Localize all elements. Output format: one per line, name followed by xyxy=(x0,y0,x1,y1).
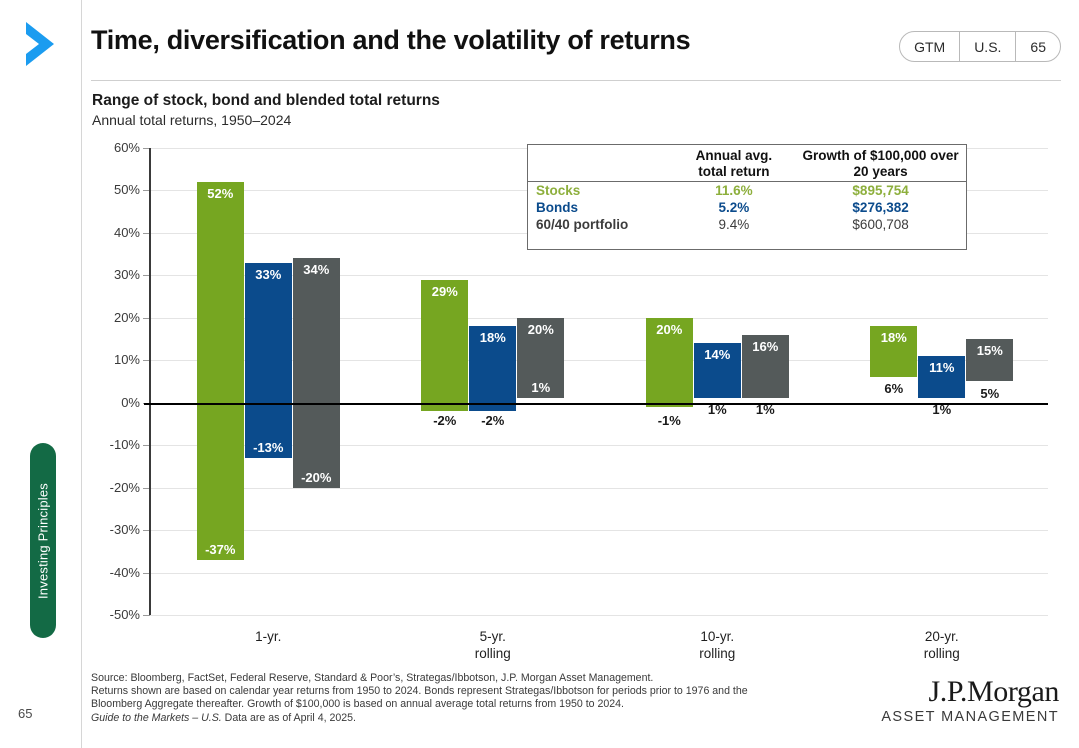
rail-divider xyxy=(81,0,82,748)
y-axis-tick-label: 20% xyxy=(92,310,140,325)
bar-min-label: -2% xyxy=(469,413,516,428)
zero-baseline xyxy=(144,403,1048,405)
bar-max-label: 20% xyxy=(517,322,564,337)
col-header-blank xyxy=(528,145,673,182)
bar-max-label: 16% xyxy=(742,339,789,354)
y-axis-tick-label: -10% xyxy=(92,437,140,452)
y-axis-tick-label: 50% xyxy=(92,182,140,197)
y-axis-tick xyxy=(143,615,150,616)
x-axis-label-1: 5-yr.rolling xyxy=(423,628,563,662)
chart-title: Range of stock, bond and blended total r… xyxy=(92,92,440,110)
footnote-line-1: Source: Bloomberg, FactSet, Federal Rese… xyxy=(91,672,881,685)
table-header-row: Annual avg. total return Growth of $100,… xyxy=(528,145,966,182)
bar-max-label: 15% xyxy=(966,343,1013,358)
sidebar-item-label: Investing Principles xyxy=(36,483,51,599)
x-axis-label-line: 10-yr. xyxy=(647,628,787,645)
chart-subtitle: Annual total returns, 1950–2024 xyxy=(92,112,291,128)
y-axis-tick-label: 40% xyxy=(92,225,140,240)
bar-max-label: 18% xyxy=(870,330,917,345)
bar-bonds-0 xyxy=(245,263,292,458)
y-axis-tick-label: -40% xyxy=(92,565,140,580)
bar-min-label: 6% xyxy=(870,381,917,396)
bar-max-label: 18% xyxy=(469,330,516,345)
table-row: Stocks11.6%$895,754 xyxy=(528,182,966,200)
gtm-badge-cell-region: U.S. xyxy=(959,32,1015,61)
bar-max-label: 11% xyxy=(918,360,965,375)
page-number: 65 xyxy=(18,706,32,721)
x-axis-label-0: 1-yr. xyxy=(198,628,338,645)
x-axis-label-line: 20-yr. xyxy=(872,628,1012,645)
bar-max-label: 34% xyxy=(293,262,340,277)
y-axis-tick-label: -20% xyxy=(92,480,140,495)
col-header-growth: Growth of $100,000 over 20 years xyxy=(795,145,966,182)
col-header-growth-line1: Growth of $100,000 over xyxy=(803,148,959,163)
x-axis-label-line: rolling xyxy=(872,645,1012,662)
sidebar-item-investing-principles[interactable]: Investing Principles xyxy=(30,443,56,638)
bar-min-label: -13% xyxy=(245,440,292,455)
col-header-annual-avg: Annual avg. total return xyxy=(673,145,796,182)
y-axis-tick-label: -30% xyxy=(92,522,140,537)
blue-chevron-right-icon xyxy=(14,16,62,72)
x-axis-label-2: 10-yr.rolling xyxy=(647,628,787,662)
table-cell-label: Bonds xyxy=(528,199,673,216)
footnote-line-3: Bloomberg Aggregate thereafter. Growth o… xyxy=(91,698,881,711)
slide-page: Investing Principles 65 Time, diversific… xyxy=(0,0,1079,748)
bar-min-label: 1% xyxy=(918,402,965,417)
bar-min-label: -37% xyxy=(197,542,244,557)
col-header-growth-line2: 20 years xyxy=(854,164,908,179)
x-axis-label-line: rolling xyxy=(423,645,563,662)
footnote-line-4: Guide to the Markets – U.S. Data are as … xyxy=(91,712,881,725)
gtm-badge-cell-gtm: GTM xyxy=(900,32,959,61)
table-cell-growth: $276,382 xyxy=(795,199,966,216)
x-axis-label-line: 1-yr. xyxy=(198,628,338,645)
bar-max-label: 29% xyxy=(421,284,468,299)
footnotes: Source: Bloomberg, FactSet, Federal Rese… xyxy=(91,672,881,725)
y-axis-tick-label: 30% xyxy=(92,267,140,282)
bar-max-label: 20% xyxy=(646,322,693,337)
jpmorgan-tagline: ASSET MANAGEMENT xyxy=(881,708,1059,726)
x-axis-label-3: 20-yr.rolling xyxy=(872,628,1012,662)
y-axis-tick-label: 60% xyxy=(92,140,140,155)
bar-60-40-portfolio-0 xyxy=(293,258,340,487)
gridline xyxy=(150,530,1048,531)
bar-min-label: -20% xyxy=(293,470,340,485)
summary-stats-table: Annual avg. total return Growth of $100,… xyxy=(527,144,967,250)
table-cell-growth: $895,754 xyxy=(795,182,966,200)
gtm-badge[interactable]: GTM U.S. 65 xyxy=(899,31,1061,62)
bar-max-label: 14% xyxy=(694,347,741,362)
table-cell-avg-return: 5.2% xyxy=(673,199,796,216)
left-rail: Investing Principles 65 xyxy=(0,0,82,748)
jpmorgan-wordmark: J.P.Morgan xyxy=(881,676,1059,708)
table-cell-avg-return: 9.4% xyxy=(673,216,796,233)
bar-min-label: -1% xyxy=(646,413,693,428)
bar-min-label: 1% xyxy=(742,402,789,417)
bar-stocks-0 xyxy=(197,182,244,560)
bar-min-label: -2% xyxy=(421,413,468,428)
footnote-line-2: Returns shown are based on calendar year… xyxy=(91,685,881,698)
table-cell-growth: $600,708 xyxy=(795,216,966,233)
y-axis-line xyxy=(149,148,151,615)
bar-max-label: 33% xyxy=(245,267,292,282)
x-axis-label-line: 5-yr. xyxy=(423,628,563,645)
bar-max-label: 52% xyxy=(197,186,244,201)
footnote-asof-date: Data are as of April 4, 2025. xyxy=(222,712,356,724)
gtm-badge-cell-page: 65 xyxy=(1015,32,1060,61)
table-row: 60/40 portfolio9.4%$600,708 xyxy=(528,216,966,233)
x-axis-label-line: rolling xyxy=(647,645,787,662)
page-title: Time, diversification and the volatility… xyxy=(91,25,690,56)
table-row: Bonds5.2%$276,382 xyxy=(528,199,966,216)
header-divider xyxy=(91,80,1061,81)
bar-min-label: 1% xyxy=(517,380,564,395)
col-header-annual-avg-line2: total return xyxy=(698,164,769,179)
bar-stocks-1 xyxy=(421,280,468,412)
bar-min-label: 5% xyxy=(966,386,1013,401)
y-axis-tick-label: 10% xyxy=(92,352,140,367)
gridline xyxy=(150,488,1048,489)
col-header-annual-avg-line1: Annual avg. xyxy=(696,148,773,163)
y-axis-tick-label: 0% xyxy=(92,395,140,410)
footnote-guide-title: Guide to the Markets – U.S. xyxy=(91,712,222,724)
table-cell-label: Stocks xyxy=(528,182,673,200)
bar-min-label: 1% xyxy=(694,402,741,417)
table-cell-avg-return: 11.6% xyxy=(673,182,796,200)
y-axis-tick-label: -50% xyxy=(92,607,140,622)
gridline xyxy=(150,573,1048,574)
gridline xyxy=(150,615,1048,616)
jpmorgan-logo: J.P.Morgan ASSET MANAGEMENT xyxy=(881,676,1059,726)
table-cell-label: 60/40 portfolio xyxy=(528,216,673,233)
